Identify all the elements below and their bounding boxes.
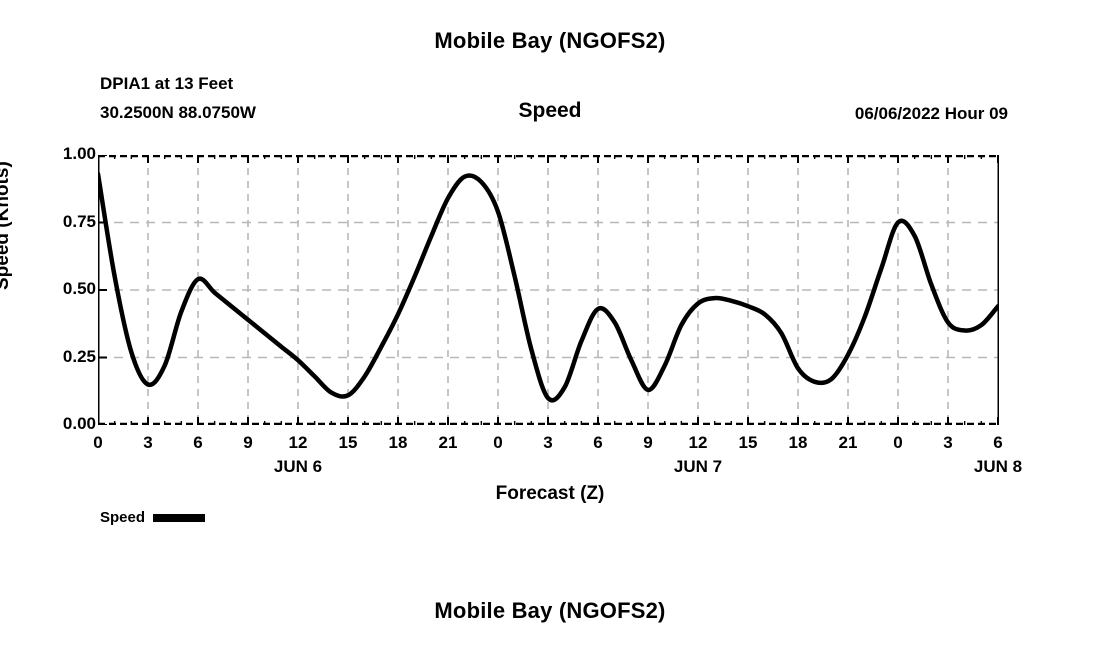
x-axis-tick-label: 9 <box>228 433 268 453</box>
x-axis-tick-label: 3 <box>128 433 168 453</box>
x-axis-tick-label: 6 <box>578 433 618 453</box>
x-axis-day-label: JUN 8 <box>938 457 1058 477</box>
x-axis-tick-label: 15 <box>328 433 368 453</box>
x-axis-tick-label: 21 <box>828 433 868 453</box>
x-axis-title: Forecast (Z) <box>0 483 1100 505</box>
x-axis-tick-label: 12 <box>278 433 318 453</box>
x-axis-tick-label: 0 <box>478 433 518 453</box>
model-run-label: 06/06/2022 Hour 09 <box>855 104 1008 124</box>
chart-legend: Speed <box>100 509 205 526</box>
x-axis-tick-label: 0 <box>78 433 118 453</box>
x-axis-tick-label: 6 <box>978 433 1018 453</box>
x-axis-tick-label: 21 <box>428 433 468 453</box>
page-title-bottom: Mobile Bay (NGOFS2) <box>0 598 1100 624</box>
speed-line-chart <box>98 155 999 425</box>
x-axis-tick-label: 0 <box>878 433 918 453</box>
x-axis-tick-label: 18 <box>378 433 418 453</box>
x-axis-tick-label: 6 <box>178 433 218 453</box>
x-axis-tick-label: 18 <box>778 433 818 453</box>
y-axis-title: Speed (Knots) <box>0 161 14 290</box>
y-axis-tick-label: 0.25 <box>26 347 96 367</box>
y-axis-tick-label: 0.75 <box>26 212 96 232</box>
legend-swatch-speed <box>153 514 205 522</box>
y-axis-tick-label: 1.00 <box>26 144 96 164</box>
y-axis-tick-label: 0.00 <box>26 414 96 434</box>
x-axis-tick-label: 9 <box>628 433 668 453</box>
x-axis-tick-label: 3 <box>928 433 968 453</box>
x-axis-tick-label: 3 <box>528 433 568 453</box>
page-title-top: Mobile Bay (NGOFS2) <box>0 28 1100 54</box>
x-axis-day-label: JUN 7 <box>638 457 758 477</box>
x-axis-tick-label: 15 <box>728 433 768 453</box>
x-axis-tick-label: 12 <box>678 433 718 453</box>
y-axis-tick-label: 0.50 <box>26 279 96 299</box>
legend-label-speed: Speed <box>100 509 145 526</box>
station-label: DPIA1 at 13 Feet <box>100 74 233 94</box>
x-axis-day-label: JUN 6 <box>238 457 358 477</box>
chart-plot-area <box>98 155 999 425</box>
